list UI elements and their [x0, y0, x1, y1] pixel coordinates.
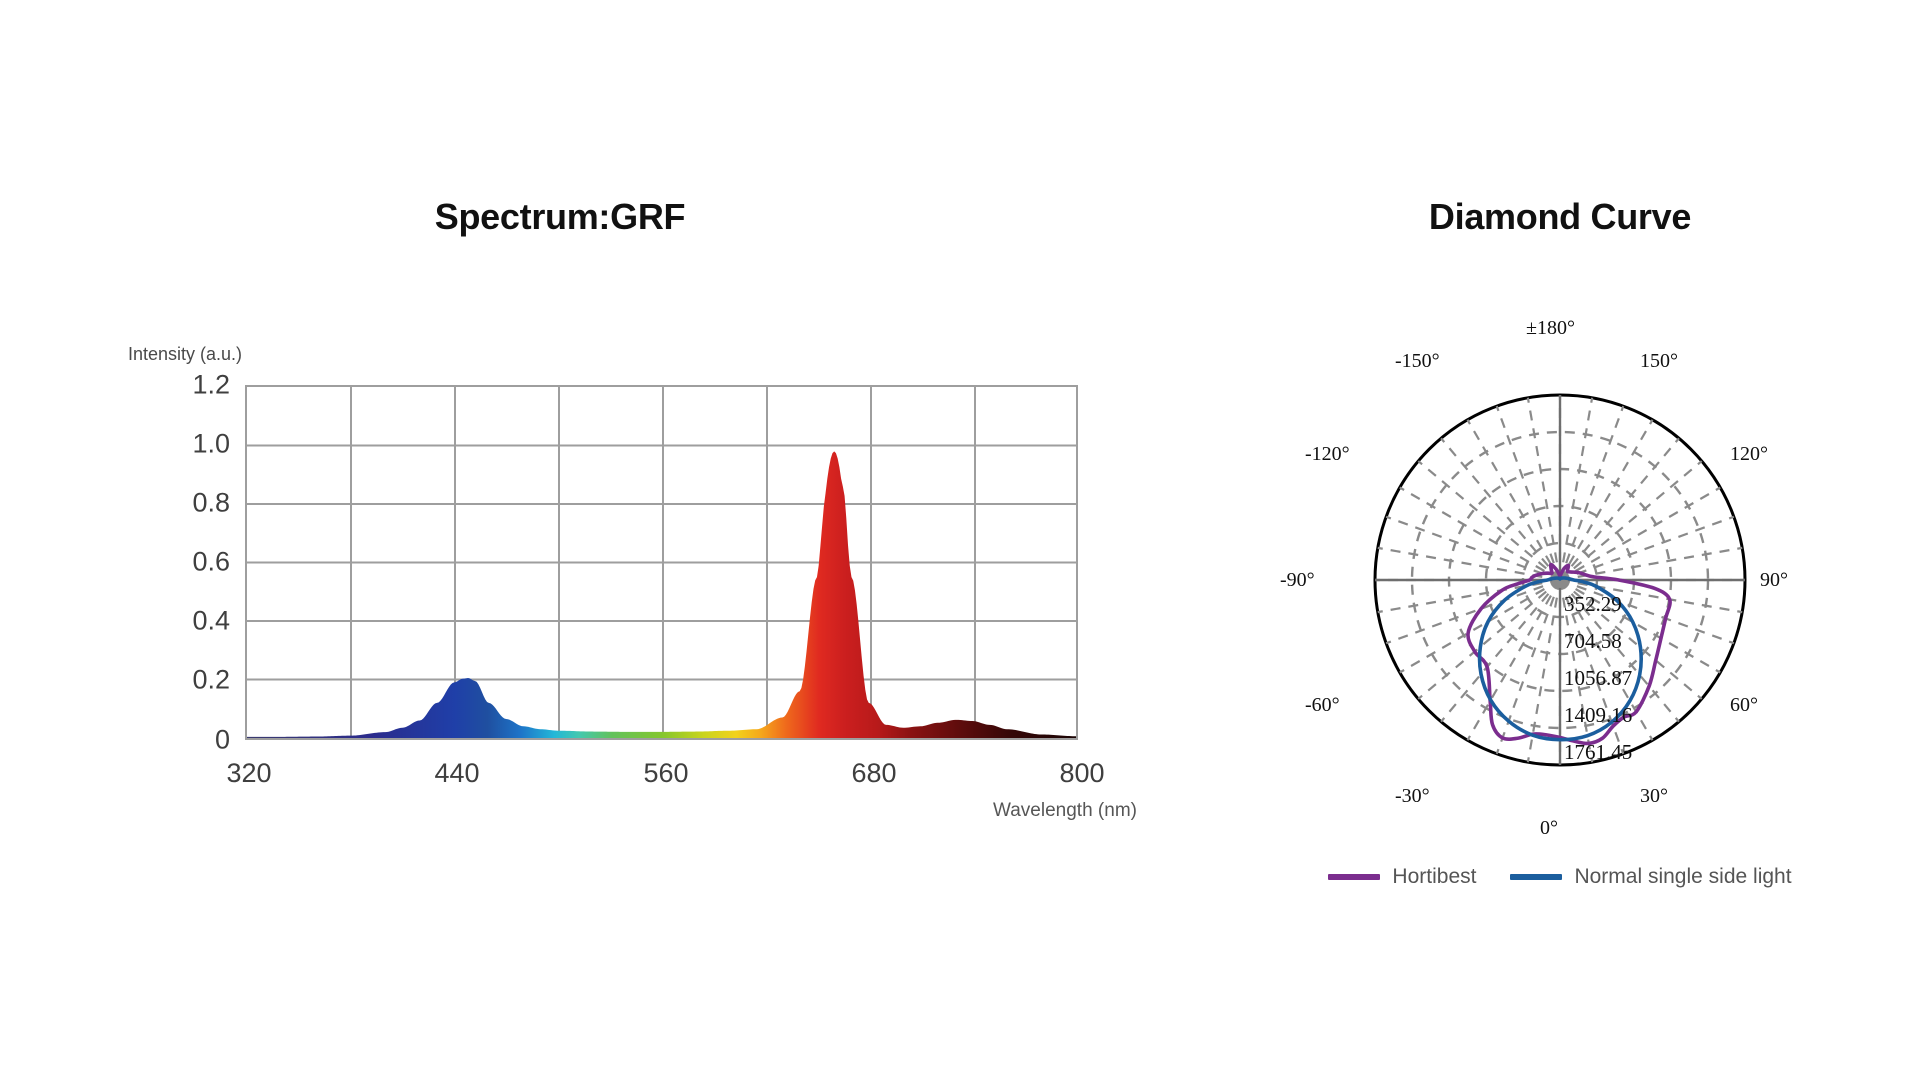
polar-radial-label-3: 1056.87	[1564, 666, 1632, 691]
polar-radial-label-2: 704.58	[1564, 629, 1622, 654]
spectrum-h-gridlines	[247, 446, 1076, 680]
polar-panel: Diamond Curve	[1200, 0, 1920, 1080]
legend-line-icon-hortibest	[1328, 874, 1380, 880]
polar-plot-area: ±180° -150° 150° -120° 120° -90° 90° -60…	[1225, 330, 1895, 830]
y-tick-3: 0.8	[120, 488, 230, 519]
legend-line-icon-normal	[1510, 874, 1562, 880]
polar-radial-label-1: 352.29	[1564, 592, 1622, 617]
spectrum-curve-svg	[247, 387, 1076, 738]
x-tick-1: 320	[226, 758, 271, 789]
spectrum-area-path	[247, 451, 1076, 738]
polar-legend: Hortibest Normal single side light	[1200, 865, 1920, 889]
polar-angle-label-neg120: -120°	[1305, 443, 1350, 466]
x-tick-3: 560	[643, 758, 688, 789]
x-tick-2: 440	[434, 758, 479, 789]
y-tick-1: 1.2	[120, 370, 230, 401]
y-tick-7: 0	[120, 725, 230, 756]
legend-label-hortibest: Hortibest	[1392, 865, 1476, 889]
legend-item-hortibest[interactable]: Hortibest	[1328, 865, 1476, 889]
polar-angle-label-90: 90°	[1760, 569, 1788, 592]
polar-angle-label-0: 0°	[1540, 817, 1558, 840]
spectrum-chart-title: Spectrum:GRF	[0, 196, 1120, 238]
spectrum-plot-area	[245, 385, 1078, 740]
spectrum-x-axis-label: Wavelength (nm)	[993, 800, 1137, 822]
spectrum-panel: Spectrum:GRF Intensity (a.u.) 1.2 1.0 0.…	[0, 0, 1200, 1080]
polar-angle-label-neg60: -60°	[1305, 694, 1340, 717]
polar-angle-label-neg30: -30°	[1395, 785, 1430, 808]
legend-label-normal: Normal single side light	[1574, 865, 1791, 889]
y-tick-4: 0.6	[120, 547, 230, 578]
spectrum-y-axis-label: Intensity (a.u.)	[128, 344, 242, 365]
y-tick-2: 1.0	[120, 429, 230, 460]
polar-grid-svg	[1225, 330, 1895, 830]
polar-radial-label-5: 1761.45	[1564, 740, 1632, 765]
polar-angle-label-60: 60°	[1730, 694, 1758, 717]
spectrum-plot-frame	[245, 385, 1078, 740]
x-tick-5: 800	[1059, 758, 1104, 789]
polar-radial-label-4: 1409.16	[1564, 703, 1632, 728]
legend-item-normal-single-side-light[interactable]: Normal single side light	[1510, 865, 1791, 889]
slide-canvas: Spectrum:GRF Intensity (a.u.) 1.2 1.0 0.…	[0, 0, 1920, 1080]
polar-angle-label-neg150: -150°	[1395, 350, 1440, 373]
polar-angle-label-neg90: -90°	[1280, 569, 1315, 592]
polar-angle-label-180: ±180°	[1526, 317, 1575, 340]
y-tick-6: 0.2	[120, 665, 230, 696]
polar-angle-label-30: 30°	[1640, 785, 1668, 808]
polar-chart-title: Diamond Curve	[1200, 196, 1920, 238]
polar-angle-label-150: 150°	[1640, 350, 1678, 373]
y-tick-5: 0.4	[120, 606, 230, 637]
polar-angle-label-120: 120°	[1730, 443, 1768, 466]
x-tick-4: 680	[851, 758, 896, 789]
